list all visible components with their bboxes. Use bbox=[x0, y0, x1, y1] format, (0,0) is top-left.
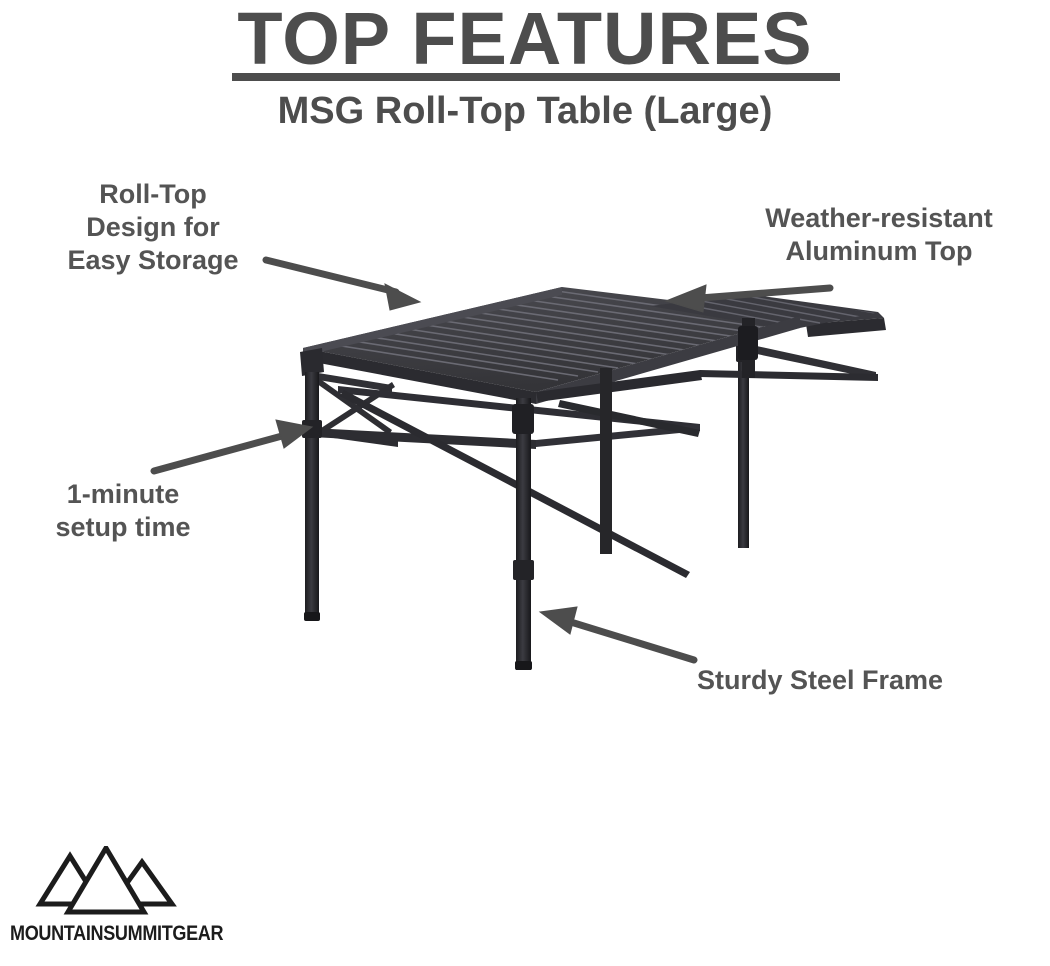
corner-post-right bbox=[742, 318, 755, 378]
table-edge-right bbox=[800, 312, 884, 324]
callout-steel-frame: Sturdy Steel Frame bbox=[620, 664, 1020, 697]
table-edge-right-front bbox=[536, 316, 800, 404]
table-leg-front-left bbox=[305, 372, 319, 620]
infographic-page: TOP FEATURES MSG Roll-Top Table (Large) bbox=[0, 0, 1050, 966]
rail-front-long bbox=[312, 428, 536, 449]
title-underline bbox=[232, 73, 840, 81]
leg-clamp bbox=[736, 336, 751, 362]
arrow-setup-time bbox=[154, 420, 312, 471]
brace-center bbox=[558, 400, 700, 437]
rail-left-upper bbox=[312, 372, 392, 392]
brace-rear-right bbox=[752, 345, 876, 379]
rail-center-under bbox=[536, 370, 702, 402]
table-top-extension bbox=[650, 294, 878, 330]
page-title: TOP FEATURES bbox=[0, 0, 1050, 74]
table-frame-front bbox=[300, 318, 758, 670]
table-top-slats bbox=[316, 290, 814, 380]
brace-front-diagonal bbox=[340, 390, 690, 578]
table-leg-rear-right bbox=[738, 330, 749, 548]
table-top-surface bbox=[303, 287, 880, 404]
table-top-panel bbox=[303, 287, 800, 392]
rail-left-lower bbox=[312, 428, 398, 447]
leg-clamp-front-center bbox=[512, 404, 534, 434]
callout-roll-top: Roll-Top Design for Easy Storage bbox=[8, 178, 298, 277]
brand-logo: MOUNTAINSUMMITGEAR bbox=[10, 846, 210, 946]
leg-joint-front-center bbox=[513, 560, 534, 580]
callout-setup-time: 1-minute setup time bbox=[8, 478, 238, 544]
arrow-weather-resistant bbox=[666, 285, 830, 312]
table-frame-back bbox=[700, 312, 886, 548]
rail-rear-right bbox=[700, 370, 878, 381]
rail-front-upper bbox=[338, 386, 700, 431]
brace-left-diag-b bbox=[318, 382, 395, 435]
callout-weather-resistant: Weather-resistant Aluminum Top bbox=[714, 202, 1044, 268]
table-extension-slats bbox=[660, 288, 880, 326]
table-edge-front bbox=[303, 348, 536, 404]
mountain-peaks-icon bbox=[32, 846, 182, 918]
corner-bracket-left bbox=[300, 348, 324, 376]
leg-foot-front-left bbox=[304, 612, 320, 621]
page-subtitle: MSG Roll-Top Table (Large) bbox=[0, 90, 1050, 133]
leg-clamp-front-left bbox=[302, 420, 322, 438]
mountain-peak-center bbox=[68, 848, 144, 912]
rail-front-right bbox=[536, 424, 700, 447]
table-edge-back bbox=[303, 287, 562, 356]
arrow-steel-frame bbox=[540, 607, 694, 660]
header: TOP FEATURES MSG Roll-Top Table (Large) bbox=[0, 0, 1050, 74]
corner-clamp-right bbox=[738, 326, 758, 360]
table-leg-front-center bbox=[516, 398, 531, 670]
leg-foot-front-center bbox=[515, 661, 532, 670]
table-edge-right-face bbox=[806, 318, 886, 337]
table-leg-rear-left bbox=[600, 368, 612, 554]
brace-left-diag-a bbox=[313, 376, 392, 435]
brand-wordmark: MOUNTAINSUMMITGEAR bbox=[10, 918, 182, 946]
